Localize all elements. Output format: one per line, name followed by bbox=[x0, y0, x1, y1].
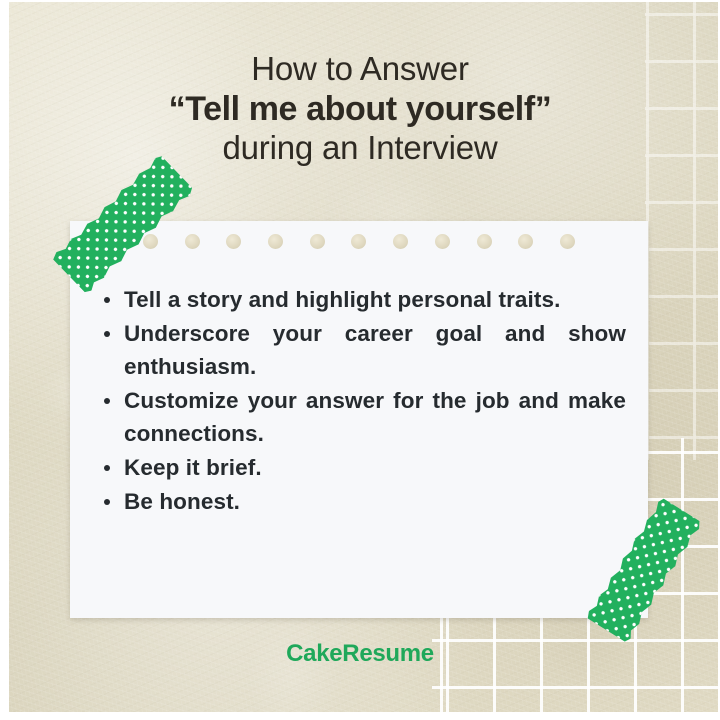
punch-hole-icon bbox=[560, 234, 575, 249]
brand-logo: CakeResume bbox=[0, 640, 720, 668]
list-item: Keep it brief. bbox=[98, 452, 626, 484]
frame-edge-top bbox=[0, 0, 720, 2]
list-item-text: Keep it brief. bbox=[124, 455, 262, 480]
list-item-text: Be honest. bbox=[124, 489, 240, 514]
punch-hole-icon bbox=[268, 234, 283, 249]
list-item-text: Tell a story and highlight personal trai… bbox=[124, 287, 560, 312]
list-item: Tell a story and highlight personal trai… bbox=[98, 284, 626, 316]
tips-list: Tell a story and highlight personal trai… bbox=[98, 284, 626, 521]
punch-hole-icon bbox=[226, 234, 241, 249]
list-item: Customize your answer for the job and ma… bbox=[98, 385, 626, 450]
frame-edge-bottom bbox=[0, 716, 720, 720]
punch-hole-icon bbox=[518, 234, 533, 249]
list-item-text: Customize your answer for the job and ma… bbox=[124, 388, 626, 445]
punch-hole-icon bbox=[435, 234, 450, 249]
punch-hole-icon bbox=[351, 234, 366, 249]
list-item: Underscore your career goal and show ent… bbox=[98, 318, 626, 383]
card-punch-hole-row bbox=[70, 234, 648, 260]
punch-hole-icon bbox=[143, 234, 158, 249]
poster-title: How to Answer “Tell me about yourself” d… bbox=[0, 50, 720, 168]
punch-hole-icon bbox=[393, 234, 408, 249]
punch-hole-icon bbox=[185, 234, 200, 249]
list-item: Be honest. bbox=[98, 486, 626, 518]
frame-edge-left bbox=[0, 0, 9, 720]
punch-hole-icon bbox=[477, 234, 492, 249]
list-item-text: Underscore your career goal and show ent… bbox=[124, 321, 626, 378]
poster-canvas: How to Answer “Tell me about yourself” d… bbox=[0, 0, 720, 720]
title-line-2: “Tell me about yourself” bbox=[0, 89, 720, 129]
punch-hole-icon bbox=[310, 234, 325, 249]
title-line-1: How to Answer bbox=[0, 50, 720, 89]
note-card: Tell a story and highlight personal trai… bbox=[70, 221, 648, 618]
title-line-3: during an Interview bbox=[0, 129, 720, 168]
